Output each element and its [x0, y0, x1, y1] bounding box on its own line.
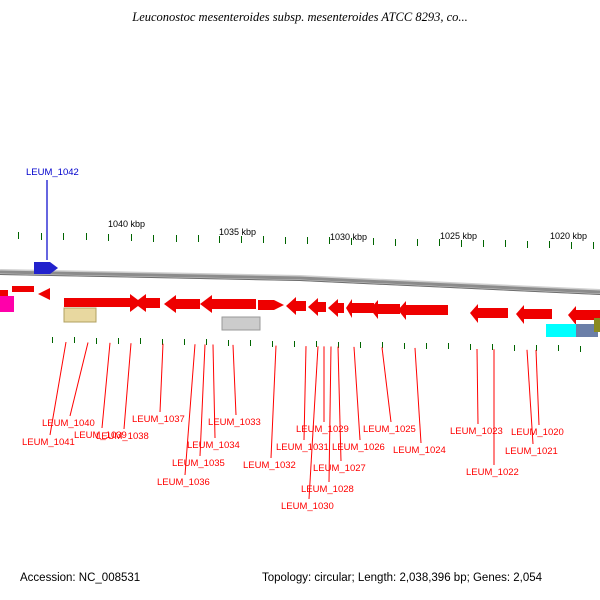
- gene-label[interactable]: LEUM_1020: [511, 427, 564, 438]
- gene-label[interactable]: LEUM_1036: [157, 477, 210, 488]
- accession-text: Accession: NC_008531: [20, 572, 140, 584]
- gene-label[interactable]: LEUM_1035: [172, 458, 225, 469]
- gene-label[interactable]: LEUM_1033: [208, 417, 261, 428]
- gene-label[interactable]: LEUM_1038: [96, 431, 149, 442]
- genome-summary-text: Topology: circular; Length: 2,038,396 bp…: [262, 572, 542, 584]
- gene-label[interactable]: LEUM_1028: [301, 484, 354, 495]
- gene-label[interactable]: LEUM_1037: [132, 414, 185, 425]
- gene-label[interactable]: LEUM_1041: [22, 437, 75, 448]
- genome-viewer[interactable]: Leuconostoc mesenteroides subsp. mesente…: [0, 0, 600, 600]
- gene-label[interactable]: LEUM_1031: [276, 442, 329, 453]
- gene-label[interactable]: LEUM_1025: [363, 424, 416, 435]
- gene-label[interactable]: LEUM_1026: [332, 442, 385, 453]
- gene-label[interactable]: LEUM_1023: [450, 426, 503, 437]
- gene-label[interactable]: LEUM_1034: [187, 440, 240, 451]
- gene-label[interactable]: LEUM_1021: [505, 446, 558, 457]
- gene-label[interactable]: LEUM_1040: [42, 418, 95, 429]
- gene-label[interactable]: LEUM_1024: [393, 445, 446, 456]
- gene-label[interactable]: LEUM_1030: [281, 501, 334, 512]
- gene-label[interactable]: LEUM_1029: [296, 424, 349, 435]
- gene-label[interactable]: LEUM_1032: [243, 460, 296, 471]
- gene-label[interactable]: LEUM_1022: [466, 467, 519, 478]
- gene-label[interactable]: LEUM_1027: [313, 463, 366, 474]
